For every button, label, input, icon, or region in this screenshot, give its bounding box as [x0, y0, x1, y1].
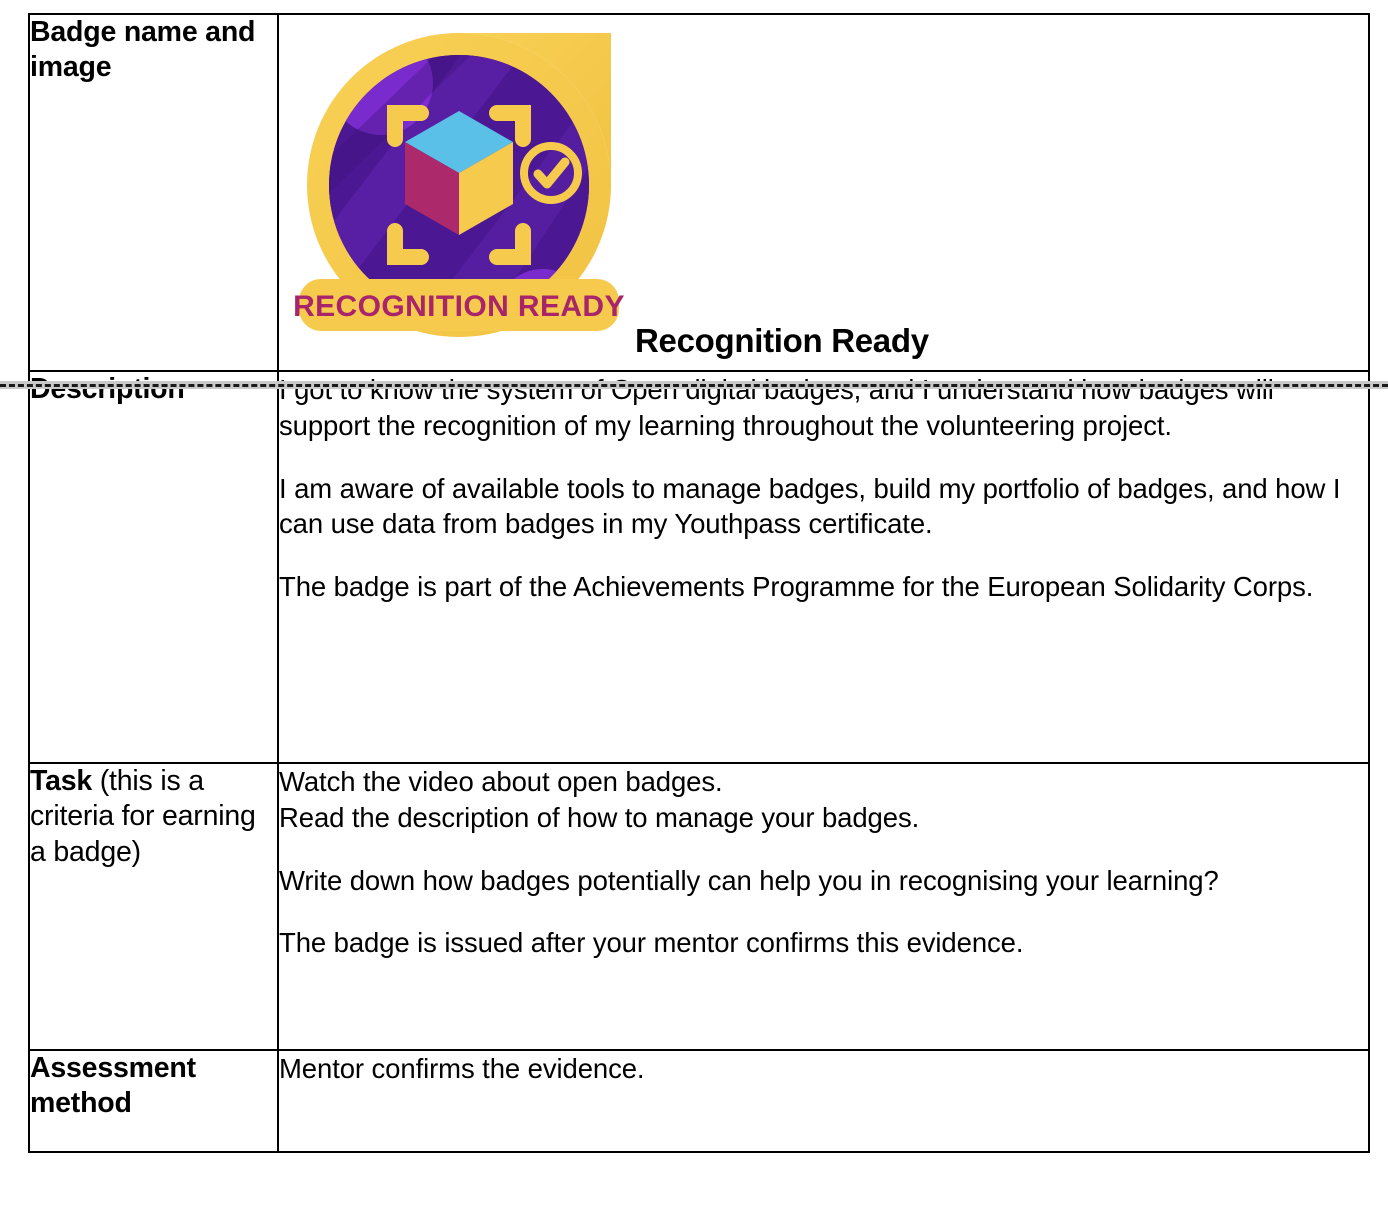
- row-label-text: Task: [30, 765, 92, 797]
- row-label-badge-name-and-image: Badge name and image: [29, 14, 278, 371]
- badge-title: Recognition Ready: [635, 320, 929, 363]
- table-row-assessment-method: Assessment method Mentor confirms the ev…: [29, 1050, 1369, 1152]
- table-row-badge-name-and-image: Badge name and image: [29, 14, 1369, 371]
- assessment-paragraph: Mentor confirms the evidence.: [279, 1051, 1368, 1087]
- badge-image: RECOGNITION READY: [285, 17, 633, 369]
- table-row-task: Task (this is a criteria for earning a b…: [29, 763, 1369, 1050]
- task-paragraph: Read the description of how to manage yo…: [279, 800, 1368, 836]
- badge-ribbon-text: RECOGNITION READY: [293, 290, 625, 323]
- task-paragraph: The badge is issued after your mentor co…: [279, 925, 1368, 961]
- row-label-text: Badge name and image: [30, 16, 255, 83]
- table-row-description: Description I got to know the system of …: [29, 371, 1369, 763]
- badge-ribbon: RECOGNITION READY: [293, 279, 625, 331]
- task-paragraph: Write down how badges potentially can he…: [279, 863, 1368, 899]
- row-label-assessment-method: Assessment method: [29, 1050, 278, 1152]
- row-label-task: Task (this is a criteria for earning a b…: [29, 763, 278, 1050]
- row-content-description: I got to know the system of Open digital…: [278, 371, 1369, 763]
- task-paragraph: Watch the video about open badges.: [279, 764, 1368, 800]
- row-content-task: Watch the video about open badges. Read …: [278, 763, 1369, 1050]
- row-label-text: Assessment method: [30, 1052, 196, 1119]
- badge-specification-table: Badge name and image: [28, 13, 1370, 1153]
- row-label-description: Description: [29, 371, 278, 763]
- row-content-assessment-method: Mentor confirms the evidence.: [278, 1050, 1369, 1152]
- page-break-marker: [0, 381, 1388, 389]
- row-content-badge-name-and-image: RECOGNITION READY Recognition Ready: [278, 14, 1369, 371]
- description-paragraph: The badge is part of the Achievements Pr…: [279, 569, 1368, 605]
- row-label-text: Description: [30, 373, 185, 405]
- description-paragraph: I am aware of available tools to manage …: [279, 471, 1368, 543]
